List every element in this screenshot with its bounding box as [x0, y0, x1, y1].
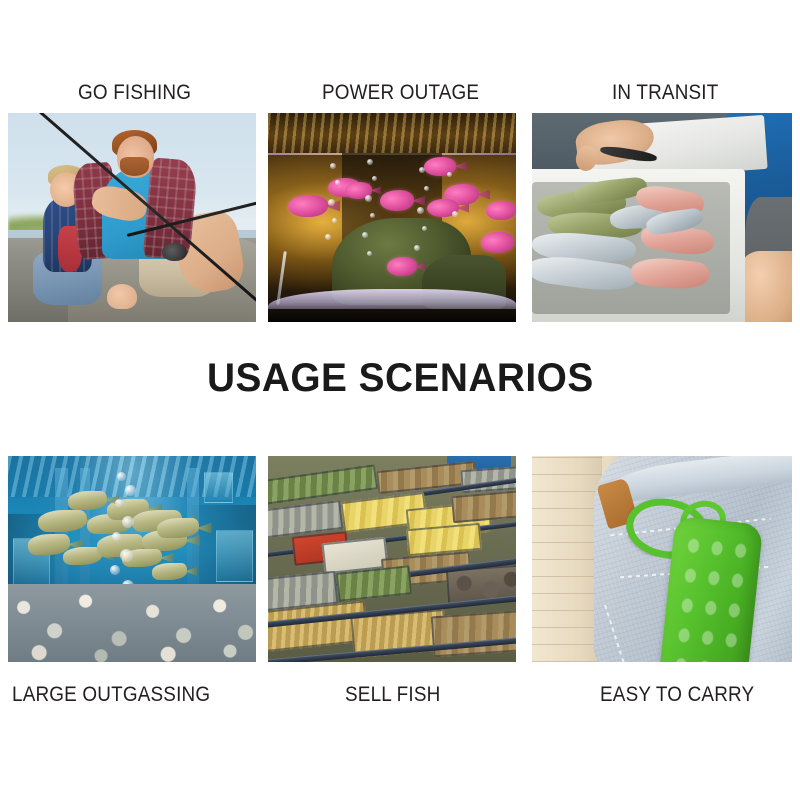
- caption-in-transit: IN TRANSIT: [612, 82, 718, 103]
- tank-floor-shadow: [268, 309, 516, 322]
- infographic-canvas: GO FISHING POWER OUTAGE IN TRANSIT: [0, 0, 800, 800]
- bubble: [122, 516, 134, 528]
- fish: [380, 190, 415, 211]
- fishing-reel: [162, 243, 187, 262]
- fish: [68, 491, 108, 510]
- bubble: [414, 245, 420, 251]
- bubble: [447, 172, 452, 177]
- bubble: [417, 207, 424, 214]
- bubble: [452, 211, 458, 217]
- tank-pillar: [80, 468, 90, 600]
- bubble: [372, 176, 377, 181]
- photo-go-fishing: [8, 113, 256, 322]
- display-tray: [450, 490, 516, 523]
- bubble: [120, 549, 133, 562]
- photo-easy-to-carry: [532, 456, 792, 662]
- photo-in-transit: [532, 113, 792, 322]
- green-silicone-product: [659, 516, 764, 662]
- photo-sell-fish: [268, 456, 516, 662]
- fish: [486, 201, 516, 220]
- water-surface-reflection: [268, 113, 516, 153]
- product-texture-dots: [668, 530, 754, 662]
- fish: [152, 563, 187, 579]
- caption-easy-to-carry: EASY TO CARRY: [600, 684, 754, 705]
- photo-large-outgassing: [8, 456, 256, 662]
- bubble: [110, 565, 120, 575]
- page-title-text: USAGE SCENARIOS: [207, 358, 594, 398]
- fish: [288, 195, 328, 218]
- bubble: [125, 485, 136, 496]
- bubble: [422, 226, 427, 231]
- tank-window: [204, 472, 233, 503]
- bubble: [335, 180, 340, 185]
- pebble-gravel-bed: [8, 584, 256, 662]
- fish: [387, 257, 417, 276]
- fish: [424, 157, 456, 176]
- fish: [481, 232, 513, 253]
- bubble: [115, 499, 123, 507]
- tank-window: [216, 530, 253, 581]
- wooden-panel: [532, 456, 602, 662]
- page-title: USAGE SCENARIOS: [0, 358, 800, 398]
- bubble: [328, 199, 335, 206]
- father-beard: [120, 157, 150, 176]
- photo-power-outage: [268, 113, 516, 322]
- caption-go-fishing: GO FISHING: [78, 82, 191, 103]
- caption-large-outgassing: LARGE OUTGASSING: [12, 684, 210, 705]
- bare-foot: [107, 284, 137, 309]
- caption-power-outage: POWER OUTAGE: [322, 82, 479, 103]
- bubble: [365, 195, 372, 202]
- caption-sell-fish: SELL FISH: [345, 684, 440, 705]
